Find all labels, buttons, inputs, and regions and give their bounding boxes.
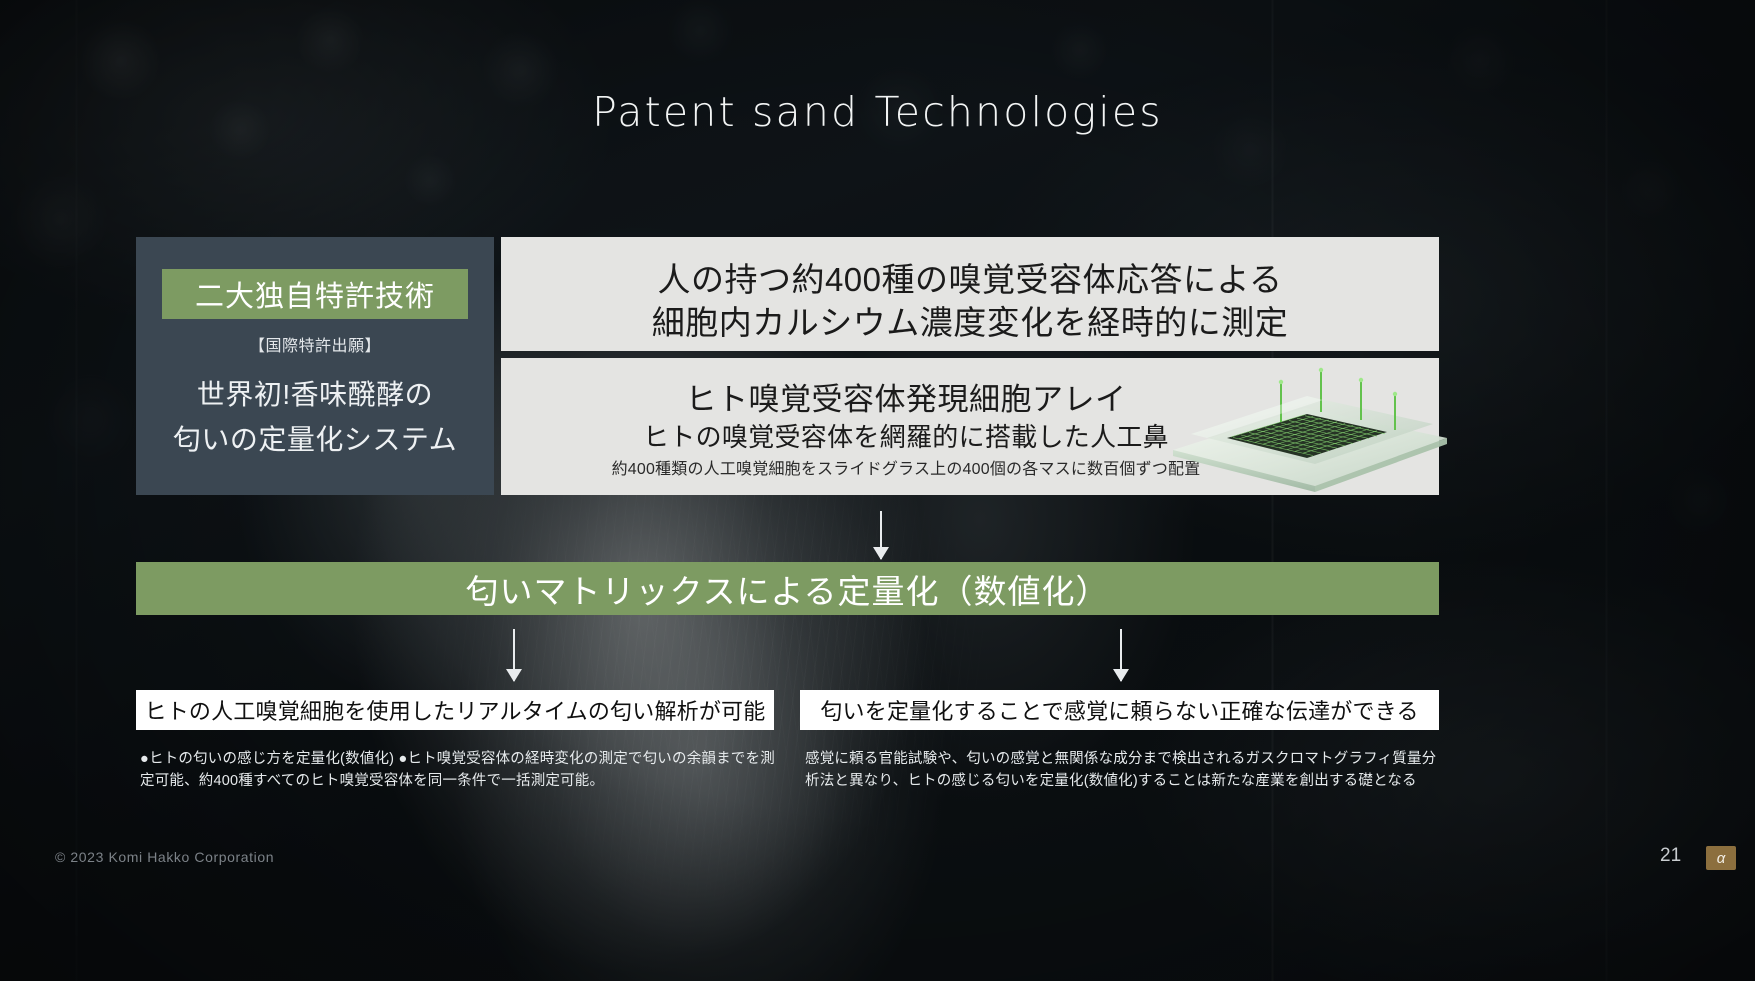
copyright-text: © 2023 Komi Hakko Corporation: [55, 849, 274, 865]
company-logo: α: [1706, 846, 1736, 870]
patent-application-note: 【国際特許出願】: [136, 332, 494, 356]
patent-tag-badge: 二大独自特許技術: [162, 269, 468, 319]
panel-headline: 世界初!香味醗酵の 匂いの定量化システム: [136, 372, 494, 462]
outcome-note-right: 感覚に頼る官能試験や、匂いの感覚と無関係な成分まで検出されるガスクロマトグラフィ…: [805, 748, 1445, 792]
outcome-label-left: ヒトの人工嗅覚細胞を使用したリアルタイムの匂い解析が可能: [145, 694, 766, 726]
arrow-head: [873, 547, 889, 560]
page-number: 21: [1660, 845, 1681, 867]
quantification-banner: 匂いマトリックスによる定量化（数値化）: [136, 562, 1439, 615]
down-arrow-middle: [872, 511, 890, 559]
outcome-label-right: 匂いを定量化することで感覚に頼らない正確な伝達ができる: [820, 694, 1418, 726]
quantification-banner-label: 匂いマトリックスによる定量化（数値化）: [465, 565, 1109, 613]
cell-array-box: ヒト嗅覚受容体発現細胞アレイ ヒトの嗅覚受容体を網羅的に搭載した人工鼻 約400…: [501, 358, 1439, 495]
outcome-note-left: ●ヒトの匂いの感じ方を定量化(数値化) ●ヒト嗅覚受容体の経時変化の測定で匂いの…: [140, 748, 785, 792]
down-arrow-right: [1112, 629, 1130, 681]
outcome-box-left: ヒトの人工嗅覚細胞を使用したリアルタイムの匂い解析が可能: [136, 690, 774, 730]
slide-glass-svg: [1155, 364, 1455, 494]
patent-summary-panel: 二大独自特許技術 【国際特許出願】 世界初!香味醗酵の 匂いの定量化システム: [136, 237, 494, 495]
arrow-head: [1113, 669, 1129, 682]
arrow-head: [506, 669, 522, 682]
page-title: Patent sand Technologies: [0, 88, 1755, 136]
measurement-description-box: 人の持つ約400種の嗅覚受容体応答による 細胞内カルシウム濃度変化を経時的に測定: [501, 237, 1439, 351]
measurement-line-2: 細胞内カルシウム濃度変化を経時的に測定: [501, 296, 1439, 344]
measurement-line-1: 人の持つ約400種の嗅覚受容体応答による: [501, 253, 1439, 301]
panel-headline-line-2: 匂いの定量化システム: [136, 417, 494, 462]
panel-headline-line-1: 世界初!香味醗酵の: [136, 372, 494, 417]
outcome-box-right: 匂いを定量化することで感覚に頼らない正確な伝達ができる: [800, 690, 1439, 730]
cell-array-slide-glass-illustration: [1155, 364, 1455, 494]
patent-tag-label: 二大独自特許技術: [195, 273, 435, 315]
presentation-slide: Patent sand Technologies 二大独自特許技術 【国際特許出…: [0, 0, 1755, 981]
down-arrow-left: [505, 629, 523, 681]
